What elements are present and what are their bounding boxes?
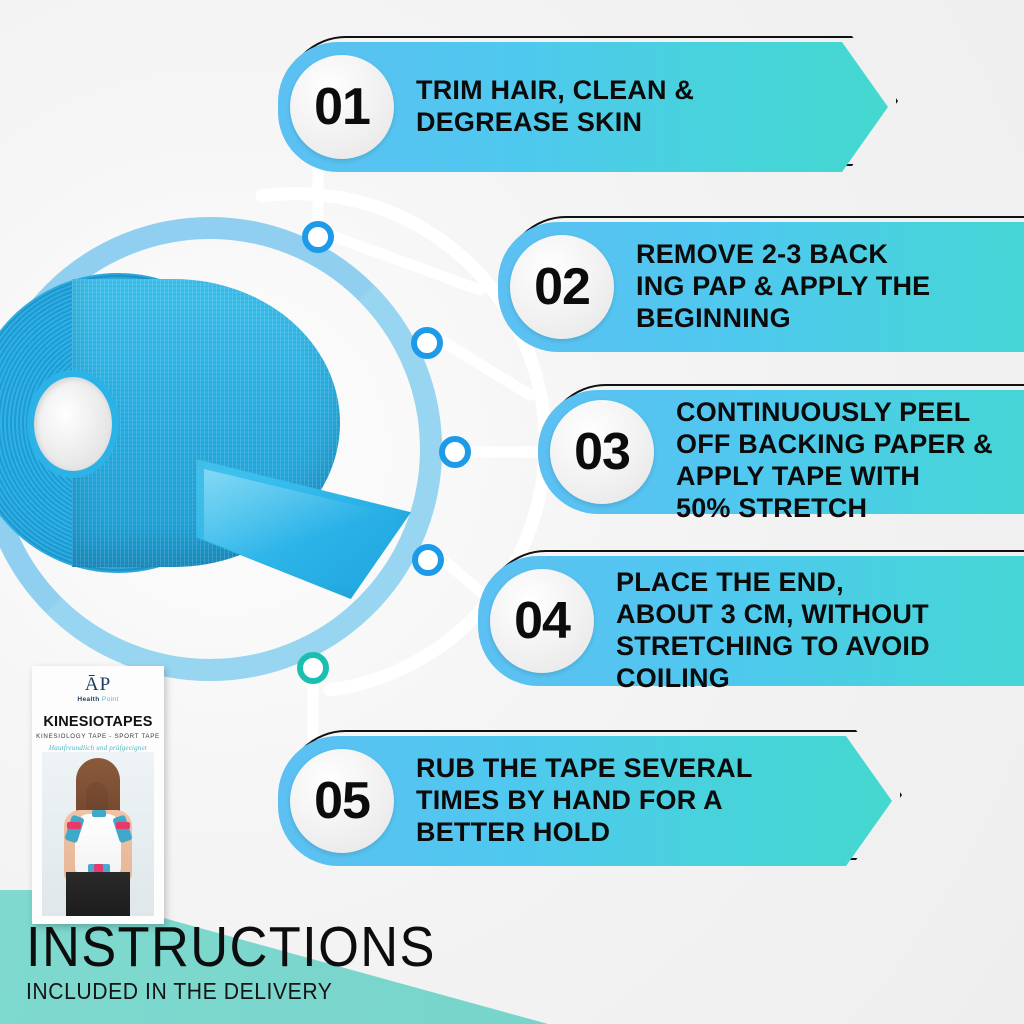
- step-2-line-3: BEGINNING: [636, 303, 930, 335]
- step-3-line-4: 50% STRETCH: [676, 493, 993, 525]
- step-4-badge: 04: [490, 569, 594, 673]
- tape-roll-core: [34, 377, 112, 471]
- step-2-line-1: REMOVE 2-3 BACK: [636, 239, 930, 271]
- footer-subtitle: INCLUDED IN THE DELIVERY: [26, 978, 578, 1005]
- photo-tape-pink-left: [67, 822, 81, 829]
- step-5-line-3: BETTER HOLD: [416, 817, 753, 849]
- step-5-text: RUB THE TAPE SEVERAL TIMES BY HAND FOR A…: [416, 753, 809, 849]
- step-2-badge: 02: [510, 235, 614, 339]
- step-4-line-1: PLACE THE END,: [616, 567, 930, 599]
- step-3-badge: 03: [550, 400, 654, 504]
- package-title: KINESIOTAPES: [32, 714, 164, 730]
- step-4-text: PLACE THE END, ABOUT 3 CM, WITHOUT STRET…: [616, 567, 986, 694]
- step-item-1[interactable]: 01 TRIM HAIR, CLEAN & DEGREASE SKIN: [278, 42, 888, 172]
- package-script-text: Hautfreundlich und prüfgeeignet: [32, 744, 164, 752]
- step-1-badge: 01: [290, 55, 394, 159]
- photo-tape-neck: [92, 810, 106, 817]
- photo-tape-pink-right: [116, 822, 130, 829]
- step-item-2[interactable]: 02 REMOVE 2-3 BACK ING PAP & APPLY THE B…: [498, 222, 1024, 352]
- tape-roll: [0, 273, 368, 603]
- step-3-text: CONTINUOUSLY PEEL OFF BACKING PAPER & AP…: [676, 397, 1024, 524]
- step-1-line-1: TRIM HAIR, CLEAN &: [416, 75, 694, 107]
- step-2-line-2: ING PAP & APPLY THE: [636, 271, 930, 303]
- step-5-badge: 05: [290, 749, 394, 853]
- footer-text-block: INSTRUCTIONS INCLUDED IN THE DELIVERY: [26, 920, 626, 1005]
- package-photo: [42, 752, 154, 916]
- step-4-line-2: ABOUT 3 CM, WITHOUT: [616, 599, 930, 631]
- package-brand: Health Point: [32, 696, 164, 703]
- step-4-line-4: COILING: [616, 663, 930, 695]
- step-5-line-2: TIMES BY HAND FOR A: [416, 785, 753, 817]
- step-3-line-3: APPLY TAPE WITH: [676, 461, 993, 493]
- package-brand-prefix: Health: [77, 696, 99, 703]
- package-monogram: ĀP: [32, 675, 164, 694]
- step-1-text: TRIM HAIR, CLEAN & DEGREASE SKIN: [416, 75, 750, 139]
- tape-roll-illustration: [0, 205, 430, 675]
- step-1-line-2: DEGREASE SKIN: [416, 107, 694, 139]
- step-5-line-1: RUB THE TAPE SEVERAL: [416, 753, 753, 785]
- step-3-line-1: CONTINUOUSLY PEEL: [676, 397, 993, 429]
- step-4-line-3: STRETCHING TO AVOID: [616, 631, 930, 663]
- product-package-box: ĀP Health Point KINESIOTAPES KINESIOLOGY…: [32, 666, 164, 924]
- step-item-5[interactable]: 05 RUB THE TAPE SEVERAL TIMES BY HAND FO…: [278, 736, 892, 866]
- package-brand-suffix: Point: [102, 696, 119, 703]
- package-logo: ĀP Health Point: [32, 675, 164, 703]
- step-item-4[interactable]: 04 PLACE THE END, ABOUT 3 CM, WITHOUT ST…: [478, 556, 1024, 686]
- step-2-text: REMOVE 2-3 BACK ING PAP & APPLY THE BEGI…: [636, 239, 986, 335]
- photo-model-skirt: [66, 872, 130, 916]
- step-3-line-2: OFF BACKING PAPER &: [676, 429, 993, 461]
- footer-title: INSTRUCTIONS: [26, 920, 578, 974]
- step-item-3[interactable]: 03 CONTINUOUSLY PEEL OFF BACKING PAPER &…: [538, 390, 1024, 514]
- infographic-canvas: 01 TRIM HAIR, CLEAN & DEGREASE SKIN 02 R…: [0, 0, 1024, 1024]
- package-subtitle: KINESIOLOGY TAPE - SPORT TAPE: [32, 733, 164, 740]
